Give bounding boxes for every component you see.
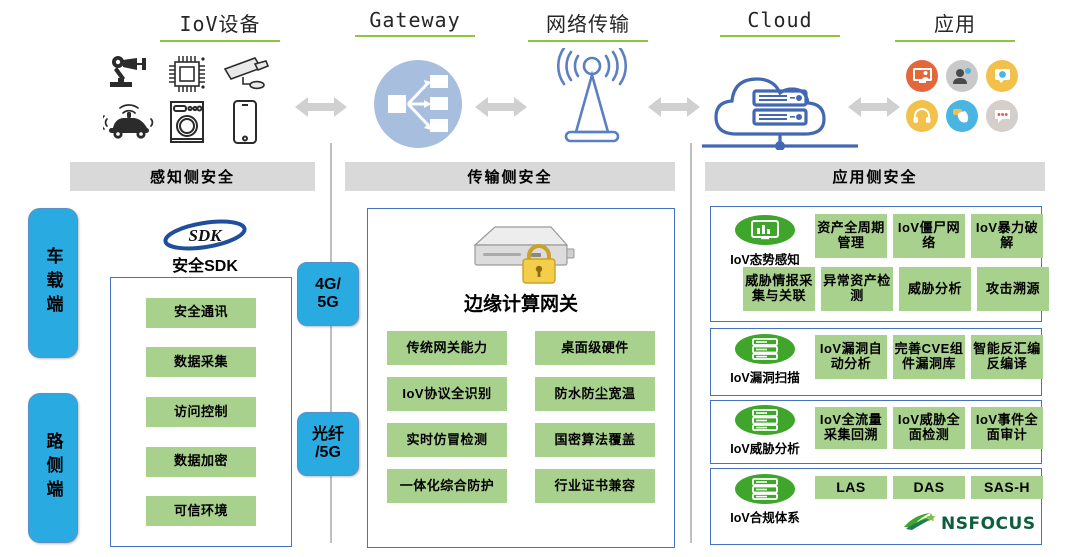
sense-capability-list: 安全通讯 数据采集 访问控制 数据加密 可信环境 [110,277,292,547]
column-title-text: 网络传输 [546,12,630,36]
row1-chips-bottom: 威胁情报采集与关联 异常资产检测 威胁分析 攻击溯源 [743,267,1049,311]
transport-security-panel: 边缘计算网关 传统网关能力 桌面级硬件 IoV协议全识别 防水防尘宽温 实时仿冒… [367,208,675,548]
chart-monitor-icon [735,215,795,245]
sdk-header: SDK 安全SDK [140,216,270,276]
smart-car-icon [103,102,155,147]
side-tab-vehicle[interactable]: 车载端 [28,208,78,358]
transport-chip[interactable]: 防水防尘宽温 [535,377,655,411]
flow-arrow-1 [295,95,347,119]
section-bar-label: 传输侧安全 [467,166,552,187]
app-chip[interactable]: 智能反汇编反编译 [971,335,1043,379]
column-title-text: IoV设备 [179,12,260,36]
cloud-servers-icon [700,58,860,155]
comment-dots-icon [986,100,1018,132]
section-bar-transport: 传输侧安全 [345,162,675,191]
transport-chip[interactable]: 实时仿冒检测 [387,423,507,457]
title-underline [355,35,475,37]
title-underline [160,40,280,42]
app-chip[interactable]: 攻击溯源 [977,267,1049,311]
column-title-iov-devices: IoV设备 [160,8,280,42]
sense-chip[interactable]: 数据采集 [146,347,256,377]
server-stack-icon [735,405,795,435]
sense-chip[interactable]: 数据加密 [146,447,256,477]
row-icon-label: IoV漏洞扫描 [717,334,813,386]
chip-icon [164,51,210,102]
title-underline [895,40,1015,42]
nsfocus-brand: NSFOCUS [903,511,1036,536]
side-tab-label: 路侧端 [41,432,66,504]
flow-arrow-3 [648,95,700,119]
robot-arm-icon [108,54,150,99]
iov-device-icon-group [100,52,274,148]
app-chip[interactable]: IoV僵尸网络 [893,214,965,258]
row2-chips: IoV漏洞自动分析 完善CVE组件漏洞库 智能反汇编反编译 [815,335,1043,379]
section-bar-sense: 感知侧安全 [70,162,315,191]
sdk-logo-icon: SDK [159,216,251,254]
app-row-threat-analysis: IoV威胁分析 IoV全流量采集回溯 IoV威胁全面检测 IoV事件全面审计 [710,400,1042,464]
connector-line1: 4G/ [315,276,341,294]
row-icon-label: IoV合规体系 [717,474,813,526]
transport-chip[interactable]: 国密算法覆盖 [535,423,655,457]
column-title-gateway: Gateway [355,8,475,37]
app-chip[interactable]: IoV威胁全面检测 [893,407,965,449]
server-stack-icon [735,334,795,364]
title-underline [528,40,648,42]
nsfocus-wordmark: NSFOCUS [941,514,1036,534]
row-label: IoV态势感知 [730,249,799,268]
server-stack-icon [735,474,795,504]
app-row-situational-awareness: IoV态势感知 资产全周期管理 IoV僵尸网络 IoV暴力破解 威胁情报采集与关… [710,206,1042,322]
app-chip[interactable]: IoV暴力破解 [971,214,1043,258]
column-separator-1 [330,143,332,543]
row-icon-label: IoV态势感知 [719,215,811,268]
app-row-compliance: IoV合规体系 LAS DAS SAS-H NSFOCUS [710,468,1042,545]
row-icon-label: IoV威胁分析 [717,405,813,457]
agent-person-icon [946,60,978,92]
connector-4g-5g[interactable]: 4G/ 5G [297,262,359,326]
column-title-text: Cloud [747,8,812,32]
column-separator-2 [690,143,692,543]
app-chip[interactable]: 完善CVE组件漏洞库 [893,335,965,379]
row-label: IoV合规体系 [730,507,799,526]
phone-call-icon [946,100,978,132]
row-label: IoV威胁分析 [730,438,799,457]
sdk-label: 安全SDK [140,252,270,276]
side-tab-label: 车载端 [41,247,66,319]
transport-chip[interactable]: 行业证书兼容 [535,469,655,503]
row3-chips: IoV全流量采集回溯 IoV威胁全面检测 IoV事件全面审计 [815,407,1043,449]
sense-chip[interactable]: 安全通讯 [146,298,256,328]
app-chip[interactable]: IoV事件全面审计 [971,407,1043,449]
sense-chip[interactable]: 访问控制 [146,397,256,427]
diagram-canvas: IoV设备 Gateway 网络传输 Cloud 应用 [0,0,1080,557]
app-chip[interactable]: IoV全流量采集回溯 [815,407,887,449]
row4-chips: LAS DAS SAS-H [815,476,1043,499]
connector-line2: /5G [315,444,341,462]
radio-tower-icon [548,48,636,151]
edge-gateway-server-icon [461,219,581,290]
app-chip[interactable]: 威胁分析 [899,267,971,311]
flow-arrow-4 [848,95,900,119]
svg-text:SDK: SDK [188,226,223,245]
app-chip[interactable]: IoV漏洞自动分析 [815,335,887,379]
desktop-monitor-icon [906,60,938,92]
edge-gateway-title: 边缘计算网关 [368,289,674,316]
app-row-vulnerability-scan: IoV漏洞扫描 IoV漏洞自动分析 完善CVE组件漏洞库 智能反汇编反编译 [710,328,1042,396]
app-chip[interactable]: 异常资产检测 [821,267,893,311]
section-bar-application: 应用侧安全 [705,162,1045,191]
transport-chip[interactable]: 一体化综合防护 [387,469,507,503]
app-chip[interactable]: LAS [815,476,887,499]
column-title-text: Gateway [369,8,460,32]
connector-line2: 5G [317,294,338,312]
connector-fiber-5g[interactable]: 光纤 /5G [297,412,359,476]
column-title-text: 应用 [934,12,976,36]
column-title-cloud: Cloud [720,8,840,37]
column-title-network: 网络传输 [528,8,648,42]
app-chip[interactable]: SAS-H [971,476,1043,499]
sense-chip[interactable]: 可信环境 [146,496,256,526]
flow-arrow-2 [475,95,527,119]
chat-bubble-icon [986,60,1018,92]
transport-chip[interactable]: 传统网关能力 [387,331,507,365]
headset-icon [906,100,938,132]
title-underline [720,35,840,37]
gateway-hub-icon [372,58,464,155]
section-bar-label: 感知侧安全 [150,166,235,187]
row-label: IoV漏洞扫描 [730,367,799,386]
side-tab-roadside[interactable]: 路侧端 [28,393,78,543]
section-bar-label: 应用侧安全 [832,166,917,187]
washing-machine-icon [167,99,207,150]
app-chip[interactable]: 资产全周期管理 [815,214,887,258]
row1-chips-top: 资产全周期管理 IoV僵尸网络 IoV暴力破解 [815,214,1043,258]
transport-capability-grid: 传统网关能力 桌面级硬件 IoV协议全识别 防水防尘宽温 实时仿冒检测 国密算法… [387,331,655,503]
transport-chip[interactable]: 桌面级硬件 [535,331,655,365]
app-chip[interactable]: 威胁情报采集与关联 [743,267,815,311]
transport-chip[interactable]: IoV协议全识别 [387,377,507,411]
cctv-camera-icon [221,55,269,98]
column-title-application: 应用 [895,8,1015,42]
app-chip[interactable]: DAS [893,476,965,499]
smartphone-icon [231,99,259,150]
nsfocus-logo-icon [903,511,937,536]
application-icon-group [906,60,1020,134]
connector-line1: 光纤 [312,426,344,444]
